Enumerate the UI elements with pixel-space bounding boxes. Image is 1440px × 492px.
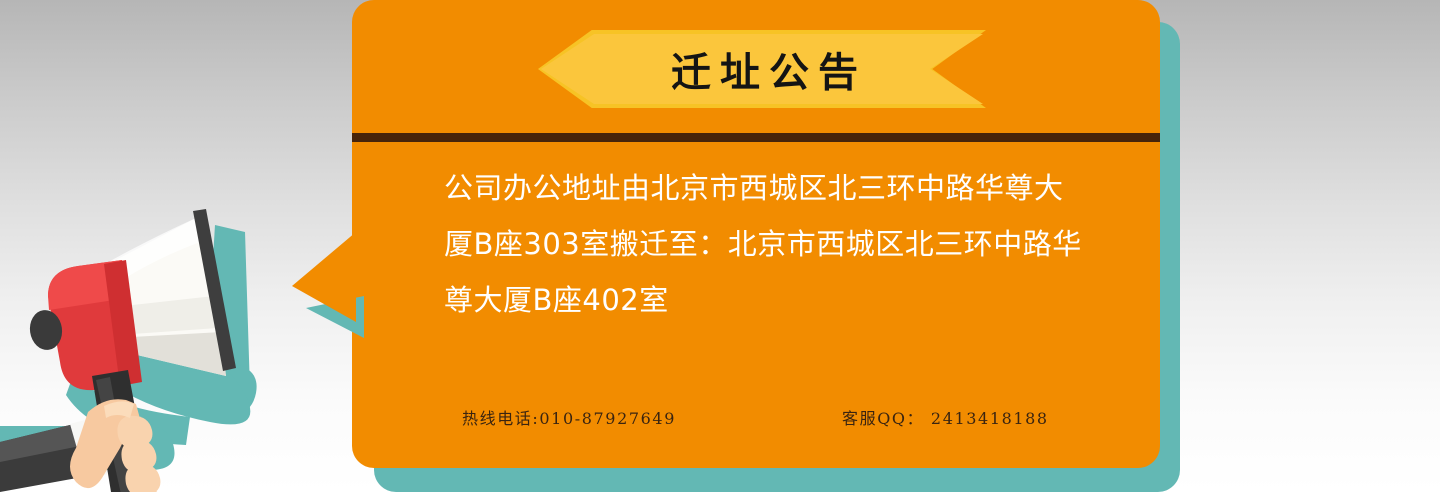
hotline-text: 热线电话:010-87927649 — [462, 405, 842, 429]
customer-service-qq-text: 客服QQ： 2413418188 — [842, 405, 1049, 429]
announcement-banner: 迁址公告 公司办公地址由北京市西城区北三环中路华尊大厦B座303室搬迁至：北京市… — [0, 0, 1440, 492]
contact-row: 热线电话:010-87927649 客服QQ： 2413418188 — [462, 405, 1092, 429]
title-ribbon: 迁址公告 — [538, 30, 986, 108]
header-divider — [352, 133, 1160, 142]
speech-bubble-tail — [292, 232, 356, 322]
hand-holding-megaphone-illustration — [0, 190, 330, 492]
card-header: 迁址公告 — [352, 0, 1160, 140]
announcement-body-text: 公司办公地址由北京市西城区北三环中路华尊大厦B座303室搬迁至：北京市西城区北三… — [444, 160, 1092, 328]
announcement-card: 迁址公告 公司办公地址由北京市西城区北三环中路华尊大厦B座303室搬迁至：北京市… — [352, 0, 1160, 468]
page-title: 迁址公告 — [538, 30, 986, 108]
